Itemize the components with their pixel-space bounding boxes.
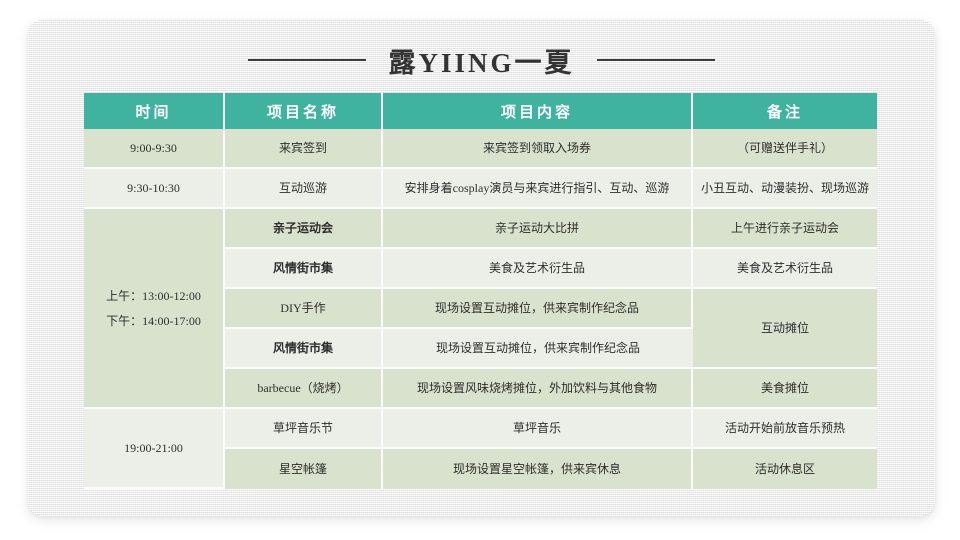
merged-time-morning: 上午：13:00-12:00 — [88, 287, 219, 305]
merged-time-afternoon: 下午：14:00-17:00 — [88, 312, 219, 330]
cell-time-merged-evening: 19:00-21:00 — [84, 409, 225, 489]
cell-remark: 美食摊位 — [693, 369, 877, 409]
cell-remark: 美食及艺术衍生品 — [693, 249, 877, 289]
column-header-remark: 备注 — [693, 93, 877, 129]
table-row: 9:30-10:30 互动巡游 安排身着cosplay演员与来宾进行指引、互动、… — [84, 169, 877, 209]
column-header-time: 时间 — [84, 93, 225, 129]
cell-remark-merged: 互动摊位 — [693, 289, 877, 369]
title-rule-left-icon — [248, 59, 366, 61]
column-header-name: 项目名称 — [225, 93, 383, 129]
cell-name: barbecue（烧烤） — [225, 369, 383, 409]
table-header-row: 时间 项目名称 项目内容 备注 — [84, 93, 877, 129]
cell-remark: （可赠送伴手礼） — [693, 129, 877, 169]
slide-canvas: 露YIING一夏 时间 项目名称 项目内容 备注 9:00-9:30 来宾签到 … — [0, 0, 960, 540]
page-title: 露YIING一夏 — [388, 41, 574, 80]
title-rule-right-icon — [597, 59, 715, 61]
column-header-content: 项目内容 — [383, 93, 693, 129]
cell-remark: 上午进行亲子运动会 — [693, 209, 877, 249]
cell-content: 美食及艺术衍生品 — [383, 249, 693, 289]
cell-time: 9:00-9:30 — [84, 129, 225, 169]
event-schedule-table: 时间 项目名称 项目内容 备注 9:00-9:30 来宾签到 来宾签到领取入场券… — [84, 93, 877, 489]
table-row: 19:00-21:00 草坪音乐节 草坪音乐 活动开始前放音乐预热 — [84, 409, 877, 449]
cell-content: 现场设置互动摊位，供来宾制作纪念品 — [383, 329, 693, 369]
table-row: 9:00-9:30 来宾签到 来宾签到领取入场券 （可赠送伴手礼） — [84, 129, 877, 169]
cell-remark: 活动休息区 — [693, 449, 877, 489]
cell-content: 安排身着cosplay演员与来宾进行指引、互动、巡游 — [383, 169, 693, 209]
cell-name: 草坪音乐节 — [225, 409, 383, 449]
cell-content: 现场设置星空帐篷，供来宾休息 — [383, 449, 693, 489]
cell-name: DIY手作 — [225, 289, 383, 329]
cell-name: 亲子运动会 — [225, 209, 383, 249]
cell-name: 来宾签到 — [225, 129, 383, 169]
cell-name: 风情街市集 — [225, 249, 383, 289]
cell-content: 草坪音乐 — [383, 409, 693, 449]
cell-name: 风情街市集 — [225, 329, 383, 369]
cell-remark: 活动开始前放音乐预热 — [693, 409, 877, 449]
cell-time-merged: 上午：13:00-12:00 下午：14:00-17:00 — [84, 209, 225, 409]
cell-name: 互动巡游 — [225, 169, 383, 209]
cell-time: 9:30-10:30 — [84, 169, 225, 209]
table-row: 上午：13:00-12:00 下午：14:00-17:00 亲子运动会 亲子运动… — [84, 209, 877, 249]
cell-remark: 小丑互动、动漫装扮、现场巡游 — [693, 169, 877, 209]
cell-content: 现场设置风味烧烤摊位，外加饮料与其他食物 — [383, 369, 693, 409]
cell-content: 亲子运动大比拼 — [383, 209, 693, 249]
cell-content: 现场设置互动摊位，供来宾制作纪念品 — [383, 289, 693, 329]
cell-content: 来宾签到领取入场券 — [383, 129, 693, 169]
slide-title-row: 露YIING一夏 — [28, 38, 935, 82]
cell-name: 星空帐篷 — [225, 449, 383, 489]
